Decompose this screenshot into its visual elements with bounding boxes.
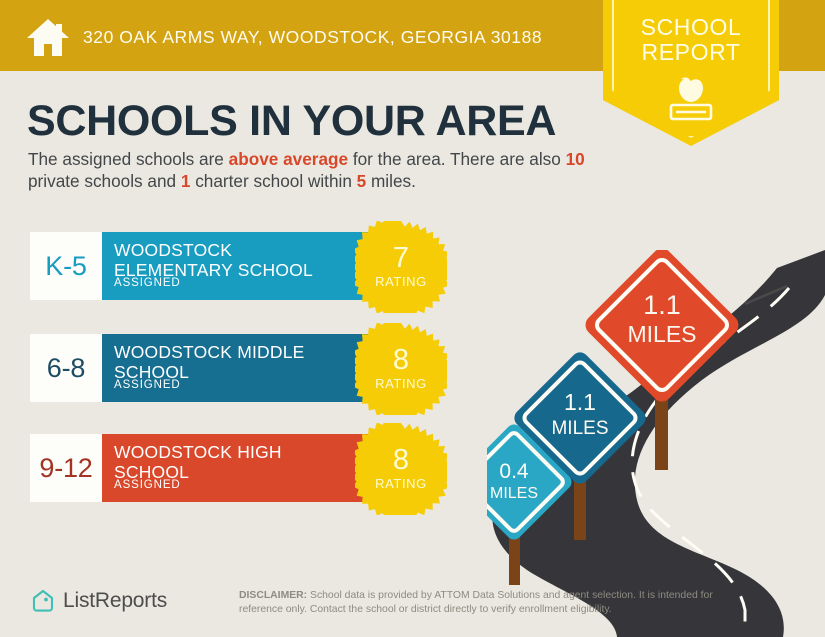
home-icon [26,17,70,57]
subtitle-charter-count: 1 [181,171,191,191]
subtitle: The assigned schools are above average f… [28,149,588,192]
listreports-logo[interactable]: ListReports [30,588,167,614]
school-row[interactable]: 6-8 WOODSTOCK MIDDLE SCHOOL ASSIGNED [30,334,377,402]
apple-on-book-icon [663,74,719,122]
listreports-house-tag-icon [30,588,56,614]
school-info-box: WOODSTOCK ELEMENTARY SCHOOL ASSIGNED [102,232,377,300]
disclaimer-body: School data is provided by ATTOM Data So… [239,590,713,615]
subtitle-radius-miles: 5 [357,171,367,191]
sign-distance-2: 1.1 [564,389,596,415]
badge-title-line1: SCHOOL [603,15,779,40]
grade-range-box: 6-8 [30,334,102,402]
school-report-infographic: 1.1 MILES 1.1 MILES 0.4 MILES 320 OAK AR… [0,0,825,637]
rating-value: 8 [393,347,409,374]
rating-value: 8 [393,447,409,474]
subtitle-highlight-above-average: above average [229,149,348,169]
rating-label: RATING [375,376,427,391]
logo-text: ListReports [63,589,167,613]
subtitle-part1: The assigned schools are [28,149,229,169]
road-signs-illustration: 1.1 MILES 1.1 MILES 0.4 MILES [487,250,825,637]
sign-unit-1: MILES [490,485,538,502]
subtitle-part3: private schools and [28,171,181,191]
school-row[interactable]: 9-12 WOODSTOCK HIGH SCHOOL ASSIGNED [30,434,377,502]
grade-range-box: K-5 [30,232,102,300]
property-address: 320 OAK ARMS WAY, WOODSTOCK, GEORGIA 301… [83,27,542,48]
grade-range: K-5 [45,251,86,282]
badge-title: SCHOOL REPORT [603,15,779,65]
grade-range: 6-8 [47,353,85,384]
subtitle-part4: charter school within [190,171,356,191]
rating-label: RATING [375,274,427,289]
sign-distance-3: 1.1 [643,290,681,320]
disclaimer-text: DISCLAIMER: School data is provided by A… [239,589,759,616]
subtitle-private-count: 10 [566,149,585,169]
page-title: SCHOOLS IN YOUR AREA [27,97,556,146]
assigned-label: ASSIGNED [114,277,181,289]
assigned-label: ASSIGNED [114,379,181,391]
disclaimer-lead: DISCLAIMER: [239,590,307,601]
sign-distance-1: 0.4 [499,460,529,483]
school-name: WOODSTOCK ELEMENTARY SCHOOL [114,241,332,280]
assigned-label: ASSIGNED [114,479,181,491]
badge-title-line2: REPORT [603,40,779,65]
subtitle-part2: for the area. There are also [348,149,566,169]
school-row[interactable]: K-5 WOODSTOCK ELEMENTARY SCHOOL ASSIGNED [30,232,377,300]
rating-label: RATING [375,476,427,491]
school-name: WOODSTOCK MIDDLE SCHOOL [114,343,332,382]
school-report-badge: SCHOOL REPORT [603,0,779,146]
sign-unit-2: MILES [551,418,608,439]
sign-unit-3: MILES [627,321,696,347]
subtitle-part5: miles. [366,171,416,191]
grade-range: 9-12 [39,453,92,484]
school-name: WOODSTOCK HIGH SCHOOL [114,443,332,482]
school-info-box: WOODSTOCK MIDDLE SCHOOL ASSIGNED [102,334,377,402]
rating-value: 7 [393,245,409,272]
grade-range-box: 9-12 [30,434,102,502]
school-info-box: WOODSTOCK HIGH SCHOOL ASSIGNED [102,434,377,502]
